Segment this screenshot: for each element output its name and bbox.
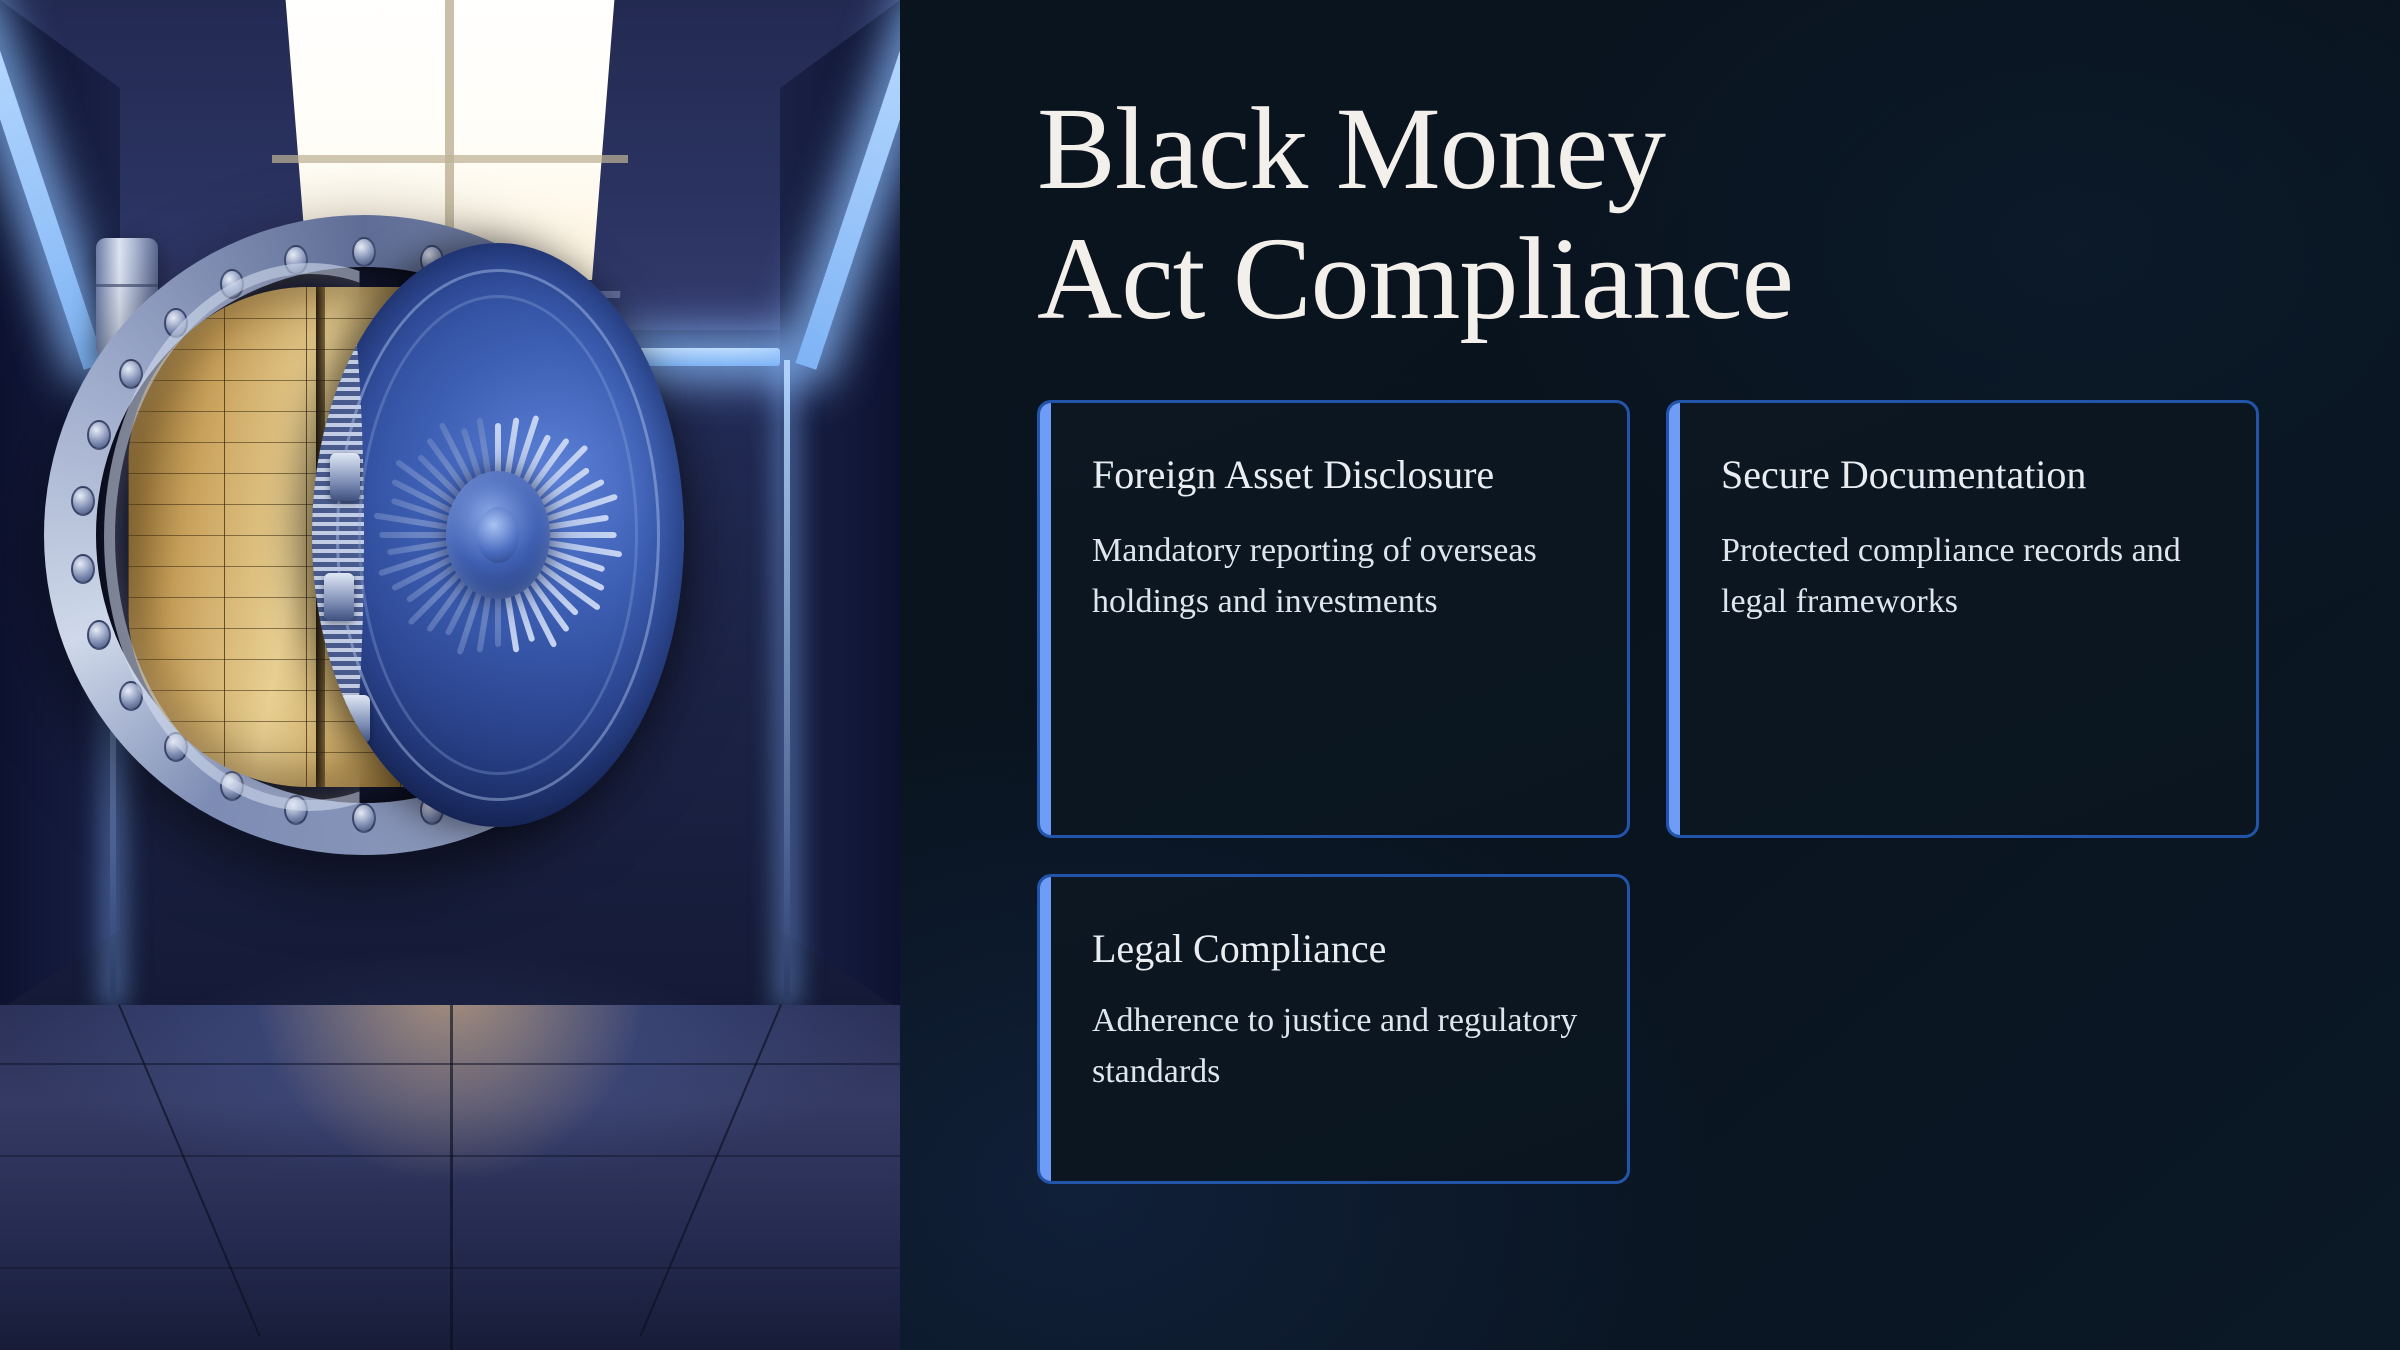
vault-illustration bbox=[0, 0, 900, 1350]
slide-root: Black Money Act Compliance Foreign Asset… bbox=[0, 0, 2400, 1350]
card-title: Foreign Asset Disclosure bbox=[1092, 451, 1583, 500]
vault-room-floor bbox=[0, 1005, 900, 1350]
vault-frame-bolt bbox=[71, 554, 95, 584]
feature-card-legal-compliance[interactable]: Legal Compliance Adherence to justice an… bbox=[1037, 874, 1630, 1184]
vault-latch-bolt bbox=[330, 453, 360, 501]
card-accent-bar bbox=[1037, 400, 1051, 838]
wall-light-strip-right bbox=[784, 360, 790, 1000]
card-title: Secure Documentation bbox=[1721, 451, 2212, 500]
vault-door-disc bbox=[312, 243, 684, 827]
feature-card-grid: Foreign Asset Disclosure Mandatory repor… bbox=[1037, 400, 2259, 1184]
vault-latch-bolt bbox=[340, 695, 370, 743]
floor-perspective-line-right bbox=[639, 1004, 782, 1336]
floor-perspective-line-left bbox=[118, 1004, 261, 1336]
vault-door-assembly bbox=[44, 215, 684, 855]
card-accent-bar bbox=[1037, 874, 1051, 1184]
card-title: Legal Compliance bbox=[1092, 925, 1583, 974]
feature-card-foreign-asset-disclosure[interactable]: Foreign Asset Disclosure Mandatory repor… bbox=[1037, 400, 1630, 838]
vault-frame-bolt bbox=[87, 420, 111, 450]
floor-center-seam bbox=[450, 1005, 453, 1350]
vault-frame-bolt bbox=[352, 237, 376, 267]
feature-card-secure-documentation[interactable]: Secure Documentation Protected complianc… bbox=[1666, 400, 2259, 838]
card-body: Mandatory reporting of overseas holdings… bbox=[1092, 525, 1583, 627]
vault-frame-bolt bbox=[352, 803, 376, 833]
vault-scene bbox=[0, 0, 900, 1350]
card-body: Adherence to justice and regulatory stan… bbox=[1092, 995, 1583, 1097]
vault-handle-hub bbox=[446, 471, 550, 599]
page-title: Black Money Act Compliance bbox=[1037, 84, 1797, 344]
vault-latch-bolt bbox=[324, 573, 354, 621]
vault-frame-bolt bbox=[71, 486, 95, 516]
card-body: Protected compliance records and legal f… bbox=[1721, 525, 2212, 627]
card-accent-bar bbox=[1666, 400, 1680, 838]
content-panel: Black Money Act Compliance Foreign Asset… bbox=[900, 0, 2400, 1350]
